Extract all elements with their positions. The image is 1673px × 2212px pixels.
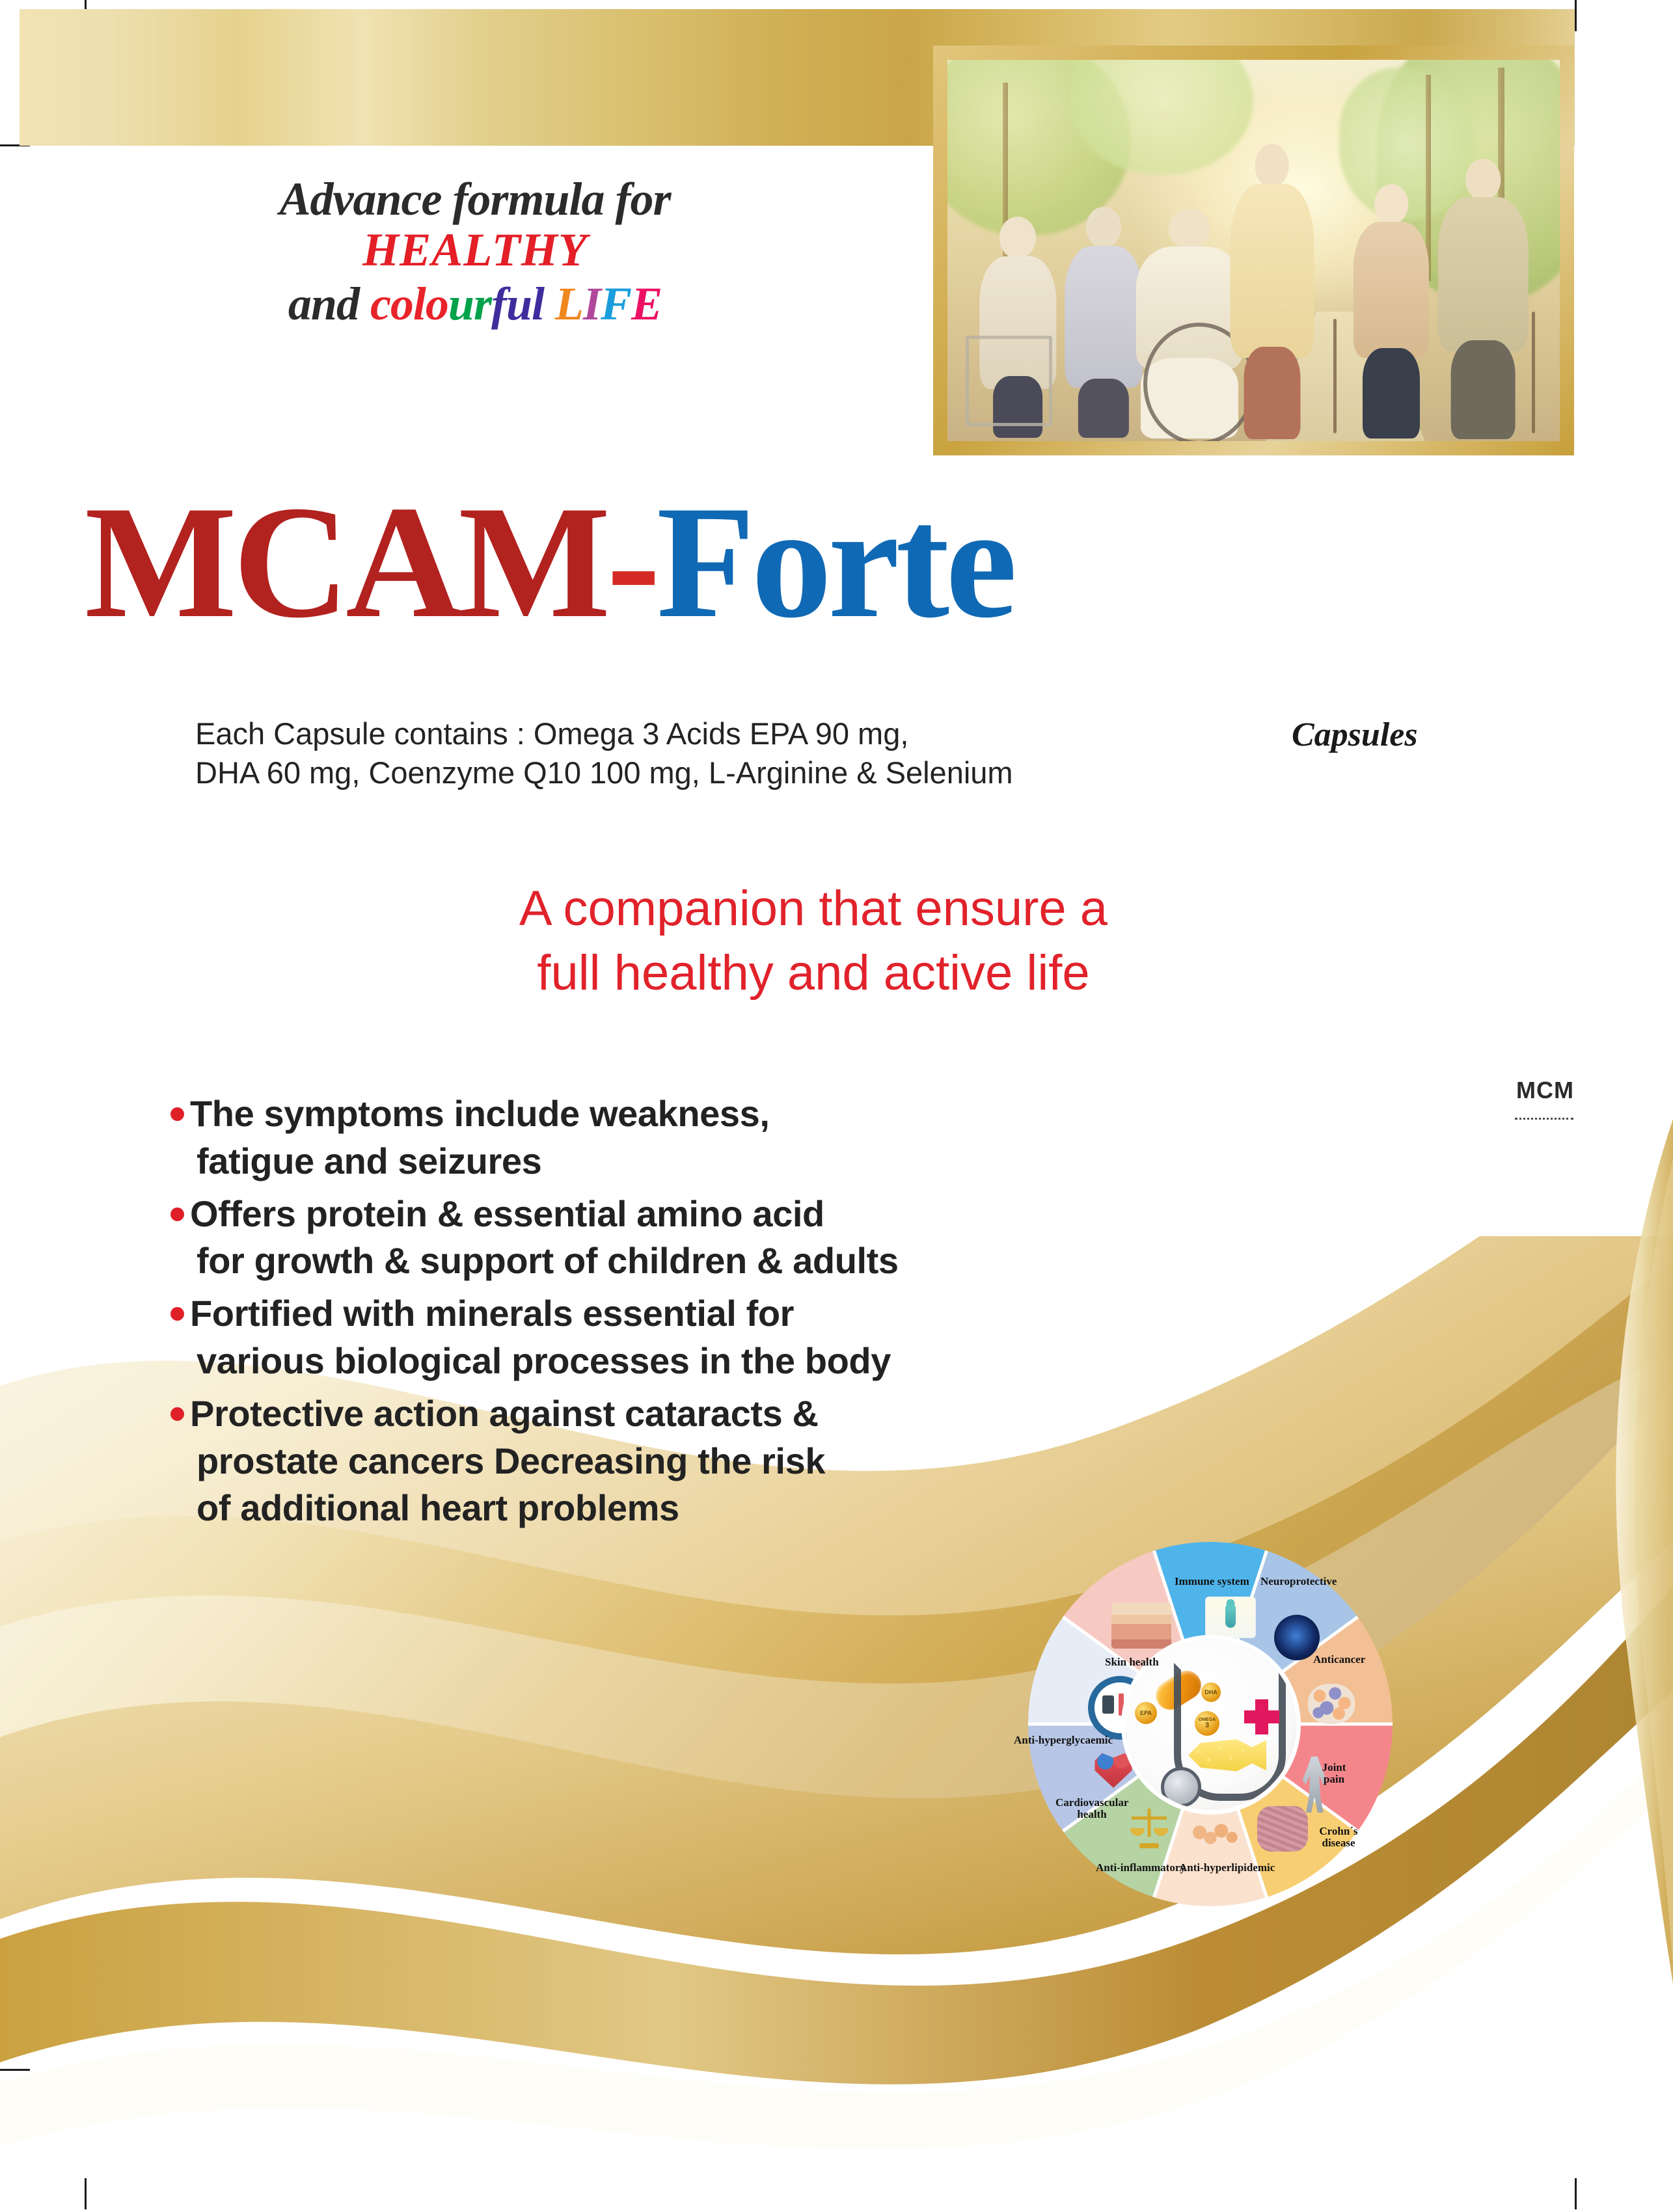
headline-word-colo: colo (370, 278, 448, 330)
company-logo-mcm: MCM (1516, 1077, 1574, 1104)
bullet-dot-icon (170, 1107, 184, 1121)
epa-pill-icon: EPA (1135, 1702, 1157, 1724)
dosage-form-label: Capsules (1292, 716, 1418, 754)
bullet-line-2: prostate cancers Decreasing the risk (197, 1438, 1186, 1485)
tumor-cells-icon (1308, 1684, 1355, 1724)
tagline-block: A companion that ensure a full healthy a… (260, 877, 1367, 1006)
bullet-line-2: various biological processes in the body (197, 1338, 1186, 1385)
headline-letter-l: L (544, 278, 583, 330)
bullet-dot-icon (170, 1207, 184, 1221)
wheel-label-skin-health: Skin health (1105, 1656, 1159, 1668)
headline-word-ur: ur (448, 278, 491, 330)
wheel-label-anti-hyperglycaemic: Anti-hyperglycaemic (1014, 1734, 1113, 1746)
brand-name-mcam: MCAM (85, 472, 606, 651)
bullet-dot-icon (170, 1307, 184, 1321)
bullet-dot-icon (170, 1407, 184, 1421)
brand-name-forte: Forte (657, 472, 1013, 651)
composition-line-1: Each Capsule contains : Omega 3 Acids EP… (195, 714, 1171, 753)
medical-cross-icon (1244, 1699, 1279, 1734)
lipid-reduction-icon (1182, 1818, 1242, 1850)
wheel-label-anti-hyperlipidemic: Anti-hyperlipidemic (1179, 1862, 1275, 1874)
wheel-label-anticancer: Anticancer (1313, 1654, 1365, 1666)
bullet-line-2: fatigue and seizures (197, 1138, 1186, 1185)
crop-mark-bottom-left-horizontal (0, 2069, 30, 2071)
tagline-line-1: A companion that ensure a (260, 877, 1367, 941)
logo-dotted-rule (1515, 1118, 1573, 1120)
bullet-item: Protective action against cataracts & pr… (170, 1390, 1186, 1532)
headline-block: Advance formula for HEALTHY and colourfu… (98, 176, 852, 330)
crop-mark-top-right-vertical (1575, 0, 1577, 31)
headline-letter-f: F (601, 278, 631, 330)
wheel-label-cardiovascular-health: Cardiovascularhealth (1055, 1797, 1128, 1821)
headline-letter-e: E (631, 278, 662, 330)
intestine-icon (1257, 1806, 1308, 1852)
crop-mark-bottom-right-vertical (1575, 2178, 1577, 2209)
bullet-text: The symptoms include weakness, fatigue a… (190, 1090, 1186, 1185)
bullet-line-1: The symptoms include weakness, (190, 1093, 770, 1134)
stethoscope-bell-icon (1161, 1767, 1201, 1807)
bullet-item: Offers protein & essential amino acid fo… (170, 1191, 1186, 1286)
bullet-line-3: of additional heart problems (197, 1485, 1186, 1532)
bullet-item: The symptoms include weakness, fatigue a… (170, 1090, 1186, 1185)
bullet-text: Fortified with minerals essential for va… (190, 1290, 1186, 1385)
gold-corner-accent (1478, 1119, 1673, 2030)
headline-line-advance: Advance formula for (98, 176, 852, 223)
skin-layers-icon (1111, 1603, 1171, 1649)
hero-photo-seniors-in-park (947, 60, 1560, 441)
wheel-label-anti-inflammatory: Anti-inflammatory (1096, 1862, 1186, 1874)
composition-line-2: DHA 60 mg, Coenzyme Q10 100 mg, L-Argini… (195, 753, 1171, 792)
headline-letter-i: I (583, 278, 601, 330)
wheel-label-joint-pain: Jointpain (1314, 1762, 1353, 1786)
immune-system-icon (1205, 1597, 1256, 1638)
benefits-wheel-infographic: EPA DHA OMEGA3 Immune system Neuroprotec… (1028, 1542, 1393, 1906)
bullet-line-2: for growth & support of children & adult… (197, 1237, 1186, 1285)
crop-mark-bottom-left-vertical (85, 2178, 87, 2209)
bullet-text: Protective action against cataracts & pr… (190, 1390, 1186, 1532)
brand-name-separator: - (606, 472, 657, 651)
headline-word-ful: ful (491, 278, 544, 330)
bullet-text: Offers protein & essential amino acid fo… (190, 1191, 1186, 1286)
bullet-line-1: Offers protein & essential amino acid (190, 1193, 824, 1234)
wheel-label-crohns-disease: Crohn´sdisease (1314, 1826, 1363, 1850)
benefits-bullet-list: The symptoms include weakness, fatigue a… (170, 1090, 1186, 1537)
headline-line-colourful-life: and colourful LIFE (98, 278, 852, 330)
hero-photo-frame (933, 46, 1574, 455)
brand-name: MCAM-Forte (85, 481, 1503, 643)
wheel-label-immune-system: Immune system (1175, 1576, 1249, 1587)
headline-line-healthy: HEALTHY (98, 223, 852, 278)
tagline-line-2: full healthy and active life (260, 941, 1367, 1006)
wheel-label-neuroprotective: Neuroprotective (1260, 1576, 1337, 1587)
composition-block: Each Capsule contains : Omega 3 Acids EP… (195, 714, 1171, 792)
headline-word-and: and (288, 278, 370, 330)
bullet-item: Fortified with minerals essential for va… (170, 1290, 1186, 1385)
bullet-line-1: Protective action against cataracts & (190, 1393, 819, 1434)
bullet-line-1: Fortified with minerals essential for (190, 1293, 794, 1334)
balance-scale-icon (1128, 1805, 1170, 1850)
